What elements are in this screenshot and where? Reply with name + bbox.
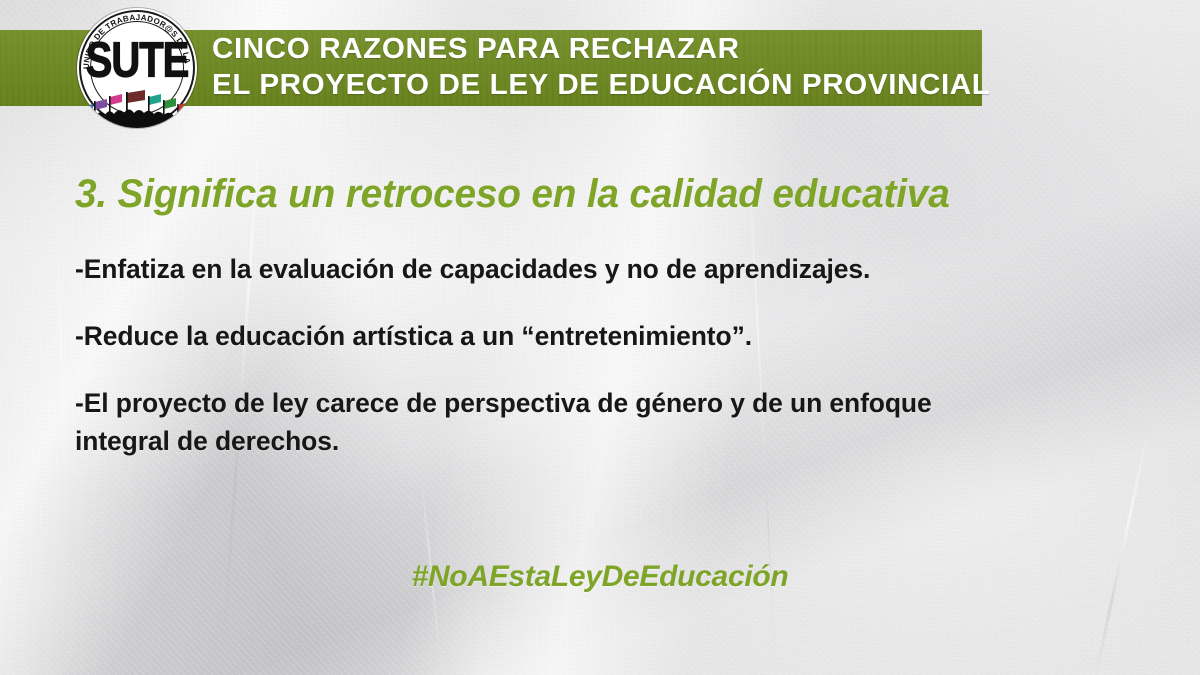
bullet-item-1: -Enfatiza en la evaluación de capacidade…	[75, 250, 1006, 288]
main-content: 3. Significa un retroceso en la calidad …	[75, 170, 1125, 460]
paper-crease	[53, 150, 68, 530]
header-title-line-1: CINCO RAZONES PARA RECHAZAR	[212, 31, 1018, 67]
bullet-item-3: -El proyecto de ley carece de perspectiv…	[75, 384, 1006, 460]
header-title-line-2: EL PROYECTO DE LEY DE EDUCACIÓN PROVINCI…	[212, 67, 1018, 103]
campaign-hashtag: #NoAEstaLeyDeEducación	[75, 560, 1125, 594]
logo-crowd-illustration	[77, 80, 197, 128]
header-title: CINCO RAZONES PARA RECHAZAR EL PROYECTO …	[212, 31, 1018, 103]
page-title: 3. Significa un retroceso en la calidad …	[75, 170, 1094, 218]
sute-logo: SINDICATO UNIDO DE TRABAJADOR@S DE LA ED…	[77, 8, 197, 128]
bullet-item-2: -Reduce la educación artística a un “ent…	[75, 317, 1006, 355]
poster-canvas: CINCO RAZONES PARA RECHAZAR EL PROYECTO …	[0, 0, 1200, 675]
paper-crease	[1094, 432, 1149, 675]
logo-wordmark: SUTE	[77, 36, 197, 85]
